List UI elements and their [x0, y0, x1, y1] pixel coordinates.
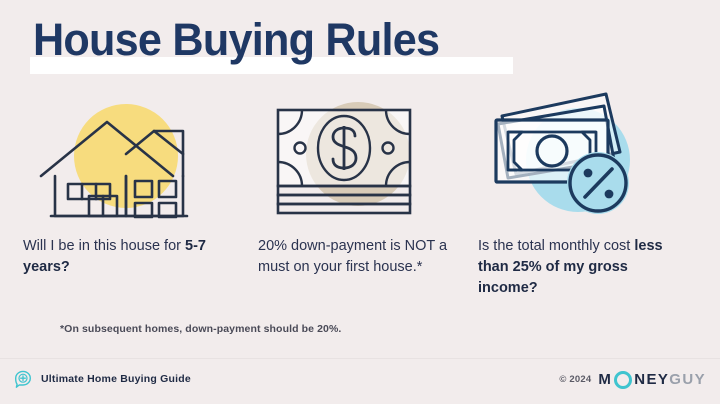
footer-brand-group: © 2024 M NEY GUY — [559, 370, 706, 388]
footnote: *On subsequent homes, down-payment shoul… — [60, 322, 341, 337]
rule-caption-3-plain: Is the total monthly cost — [478, 238, 634, 254]
moneyguy-logo[interactable]: M NEY GUY — [598, 370, 706, 388]
footer-guide-link[interactable]: Ultimate Home Buying Guide — [14, 370, 191, 388]
plus-bubble-icon — [14, 370, 32, 388]
brand-m: M — [598, 371, 612, 388]
brand-guy: GUY — [669, 371, 706, 388]
rule-caption-2: 20% down-payment is NOT a must on your f… — [258, 236, 473, 278]
footer-divider — [0, 358, 720, 359]
rule-column-3: Is the total monthly cost less than 25% … — [478, 88, 703, 228]
cash-stack-icon — [258, 88, 458, 228]
rule-caption-1: Will I be in this house for 5-7 years? — [23, 236, 238, 278]
cash-icon-container — [258, 88, 458, 228]
rule-column-1: Will I be in this house for 5-7 years? — [23, 88, 248, 228]
footer-bar: Ultimate Home Buying Guide © 2024 M NEY … — [0, 358, 720, 404]
banknotes-percent-icon — [478, 88, 678, 228]
rule-column-2: 20% down-payment is NOT a must on your f… — [258, 88, 483, 228]
house-icon-container — [23, 88, 223, 228]
house-icon — [23, 88, 223, 228]
title-section: House Buying Rules — [0, 0, 720, 86]
rule-caption-3: Is the total monthly cost less than 25% … — [478, 236, 688, 299]
rule-caption-1-plain: Will I be in this house for — [23, 238, 185, 254]
brand-ney: NEY — [634, 371, 669, 388]
brand-o-ring-icon — [614, 371, 632, 389]
infographic-canvas: House Buying Rules — [0, 0, 720, 404]
footer-guide-label: Ultimate Home Buying Guide — [41, 373, 191, 385]
banknotes-icon-container — [478, 88, 678, 228]
copyright-text: © 2024 — [559, 374, 591, 385]
rules-row: Will I be in this house for 5-7 years? — [0, 88, 720, 308]
page-title: House Buying Rules — [33, 14, 439, 66]
